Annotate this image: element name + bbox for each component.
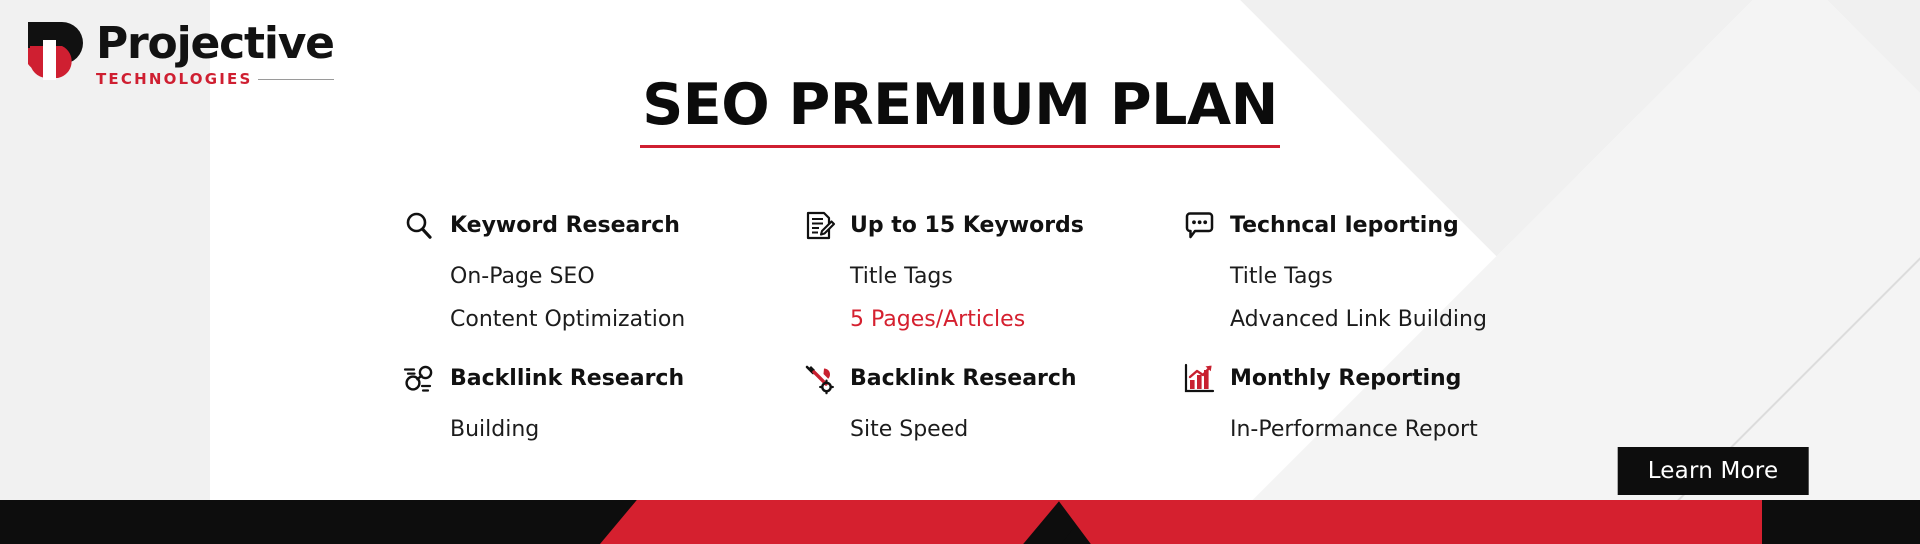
bottom-decorative-bar: [0, 500, 1920, 544]
feature-heading-row: Techncal Ieporting: [1182, 212, 1582, 248]
bottom-bar-red-wedge-right: [1462, 500, 1762, 544]
magnifier-search-icon: [402, 209, 436, 243]
seo-plan-banner: Projective TECHNOLOGIES SEO PREMIUM PLAN: [0, 0, 1920, 544]
feature-title: Techncal Ieporting: [1230, 212, 1459, 240]
broken-link-backlink-icon: [402, 362, 436, 396]
learn-more-button[interactable]: Learn More: [1618, 447, 1809, 495]
feature-subitem: Content Optimization: [450, 306, 802, 334]
title-underline: [640, 145, 1280, 148]
wrench-link-gear-icon: [802, 362, 836, 396]
projective-p-logo-icon: [22, 18, 86, 80]
feature-title: Up to 15 Keywords: [850, 212, 1084, 240]
feature-title: Backlink Research: [850, 365, 1077, 393]
feature-title: Backllink Research: [450, 365, 684, 393]
feature-heading-row: Up to 15 Keywords: [802, 212, 1182, 248]
feature-column-3: Techncal Ieporting Title Tags Advanced L…: [1182, 212, 1582, 450]
feature-column-1: Keyword Research On-Page SEO Content Opt…: [402, 212, 802, 450]
feature-subitem: Title Tags: [1230, 263, 1582, 291]
chat-bubble-dots-icon: [1182, 209, 1216, 243]
feature-group: Techncal Ieporting Title Tags Advanced L…: [1182, 212, 1582, 333]
feature-group: Keyword Research On-Page SEO Content Opt…: [402, 212, 802, 333]
feature-heading-row: Monthly Reporting: [1182, 365, 1582, 401]
feature-heading-row: Keyword Research: [402, 212, 802, 248]
feature-title: Keyword Research: [450, 212, 680, 240]
page-title: SEO PREMIUM PLAN: [642, 76, 1278, 136]
brand-name: Projective: [96, 22, 334, 66]
feature-column-2: Up to 15 Keywords Title Tags 5 Pages/Art…: [802, 212, 1182, 450]
feature-group: Monthly Reporting In-Performance Report: [1182, 365, 1582, 444]
feature-subitem: In-Performance Report: [1230, 416, 1582, 444]
bottom-bar-red-wedge-left: [600, 500, 1060, 544]
feature-subitem: Building: [450, 416, 802, 444]
feature-group: Backlink Research Site Speed: [802, 365, 1182, 444]
feature-columns: Keyword Research On-Page SEO Content Opt…: [402, 212, 1582, 450]
feature-subitem: Site Speed: [850, 416, 1182, 444]
column-spacer: [1182, 339, 1582, 365]
feature-subitem-highlighted: 5 Pages/Articles: [850, 306, 1182, 334]
feature-title: Monthly Reporting: [1230, 365, 1461, 393]
feature-subitem: On-Page SEO: [450, 263, 802, 291]
title-section: SEO PREMIUM PLAN: [0, 76, 1920, 148]
feature-heading-row: Backllink Research: [402, 365, 802, 401]
document-pencil-edit-icon: [802, 209, 836, 243]
feature-heading-row: Backlink Research: [802, 365, 1182, 401]
feature-group: Up to 15 Keywords Title Tags 5 Pages/Art…: [802, 212, 1182, 333]
feature-subitem: Title Tags: [850, 263, 1182, 291]
feature-subitem: Advanced Link Building: [1230, 306, 1582, 334]
column-spacer: [402, 339, 802, 365]
bottom-bar-red-wedge-middle: [1058, 500, 1468, 544]
bar-chart-growth-icon: [1182, 362, 1216, 396]
column-spacer: [802, 339, 1182, 365]
feature-group: Backllink Research Building: [402, 365, 802, 444]
